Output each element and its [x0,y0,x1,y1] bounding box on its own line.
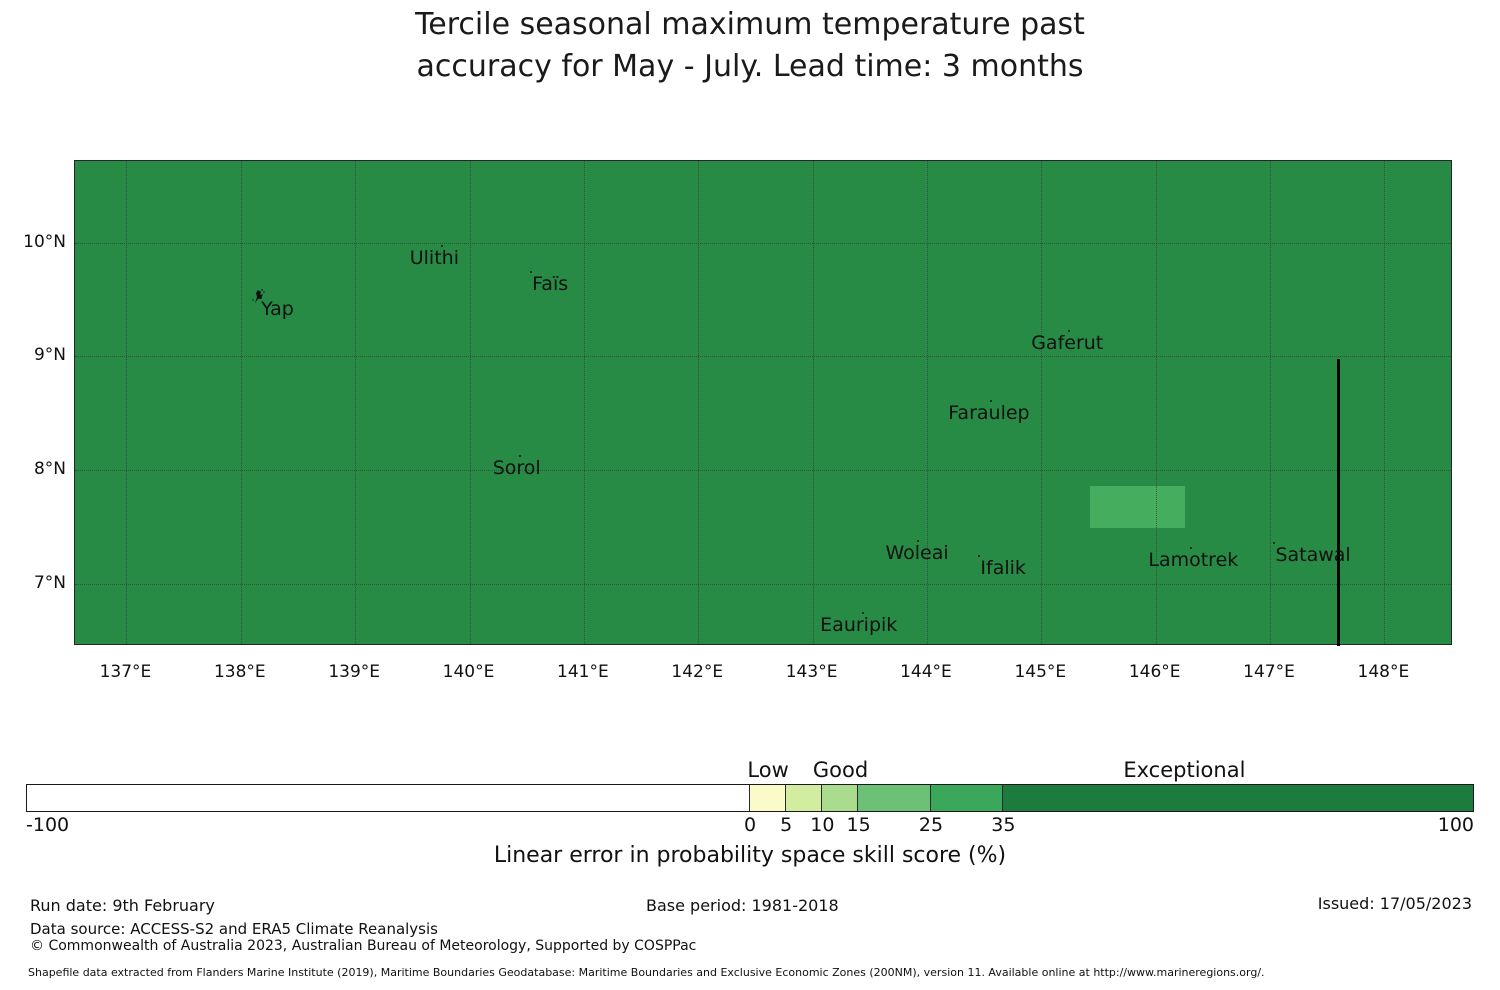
x-tick-label: 141°E [557,662,609,682]
place-label-faraulep: Faraulep [948,402,1029,424]
colorbar-segment [858,785,930,811]
x-tick-label: 137°E [100,662,152,682]
y-tick-label: 9°N [0,345,66,365]
colorbar-tick-label: -100 [26,814,69,836]
place-label-eauripik: Eauripik [820,614,897,636]
issued-date: Issued: 17/05/2023 [1318,894,1472,913]
colorbar-axis-title: Linear error in probability space skill … [0,843,1500,868]
x-tick-label: 144°E [900,662,952,682]
gridline-vertical [126,161,127,644]
gridline-vertical [241,161,242,644]
x-tick-label: 147°E [1243,662,1295,682]
colorbar-segment [27,785,750,811]
gridline-vertical [355,161,356,644]
colorbar-tick-label: 0 [744,814,756,836]
colorbar-category-exceptional: Exceptional [1123,758,1245,782]
colorbar-segment [1003,785,1473,811]
title-line-1: Tercile seasonal maximum temperature pas… [415,7,1085,42]
gridline-vertical [1156,161,1157,644]
x-tick-label: 140°E [443,662,495,682]
run-date: Run date: 9th February [30,896,215,915]
x-tick-label: 148°E [1358,662,1410,682]
colorbar-tick-label: 15 [847,814,871,836]
gridline-vertical [1041,161,1042,644]
place-label-yap: Yap [261,298,294,320]
gridline-vertical [584,161,585,644]
x-tick-label: 142°E [671,662,723,682]
colorbar-tick-label: 25 [919,814,943,836]
gridline-horizontal [75,243,1451,244]
colorbar-category-good: Good [813,758,868,782]
colorbar-segment [931,785,1003,811]
gridline-vertical [813,161,814,644]
y-tick-label: 10°N [0,232,66,252]
place-label-gaferut: Gaferut [1031,332,1103,354]
gridline-vertical [1270,161,1271,644]
copyright-notice: © Commonwealth of Australia 2023, Austra… [30,938,696,954]
colorbar-tick-label: 10 [810,814,834,836]
gridline-vertical [1384,161,1385,644]
shapefile-note: Shapefile data extracted from Flanders M… [28,966,1265,979]
x-tick-label: 145°E [1014,662,1066,682]
gridline-vertical [698,161,699,644]
title-line-2: accuracy for May - July. Lead time: 3 mo… [0,46,1500,88]
data-source: Data source: ACCESS-S2 and ERA5 Climate … [30,920,438,938]
colorbar-segment [786,785,822,811]
place-label-sorol: Sorol [493,457,541,479]
place-label-lamotrek: Lamotrek [1148,549,1238,571]
colorbar-tick-label: 100 [1438,814,1474,836]
place-label-ifalik: Ifalik [980,557,1026,579]
gridline-horizontal [75,470,1451,471]
colorbar[interactable] [26,784,1474,812]
x-tick-label: 139°E [328,662,380,682]
map-value-cell [1090,486,1185,528]
page-title: Tercile seasonal maximum temperature pas… [0,4,1500,88]
colorbar-category-low: Low [747,758,788,782]
y-tick-label: 7°N [0,573,66,593]
colorbar-segment [822,785,858,811]
place-label-ulithi: Ulithi [410,247,459,269]
place-label-satawal: Satawal [1275,544,1350,566]
x-tick-label: 138°E [214,662,266,682]
colorbar-tick-label: 5 [780,814,792,836]
eez-boundary-line [1337,359,1340,646]
gridline-horizontal [75,356,1451,357]
map-plot-area[interactable]: YapUlithiFaïsSorolGaferutFaraulepWoleaiI… [74,160,1452,645]
place-label-woleai: Woleai [885,542,948,564]
gridline-horizontal [75,584,1451,585]
x-tick-label: 146°E [1129,662,1181,682]
place-label-fais: Faïs [532,273,568,295]
gridline-vertical [470,161,471,644]
colorbar-segment [750,785,786,811]
y-tick-label: 8°N [0,459,66,479]
base-period: Base period: 1981-2018 [646,896,839,915]
x-tick-label: 143°E [786,662,838,682]
colorbar-tick-label: 35 [991,814,1015,836]
gridline-vertical [927,161,928,644]
